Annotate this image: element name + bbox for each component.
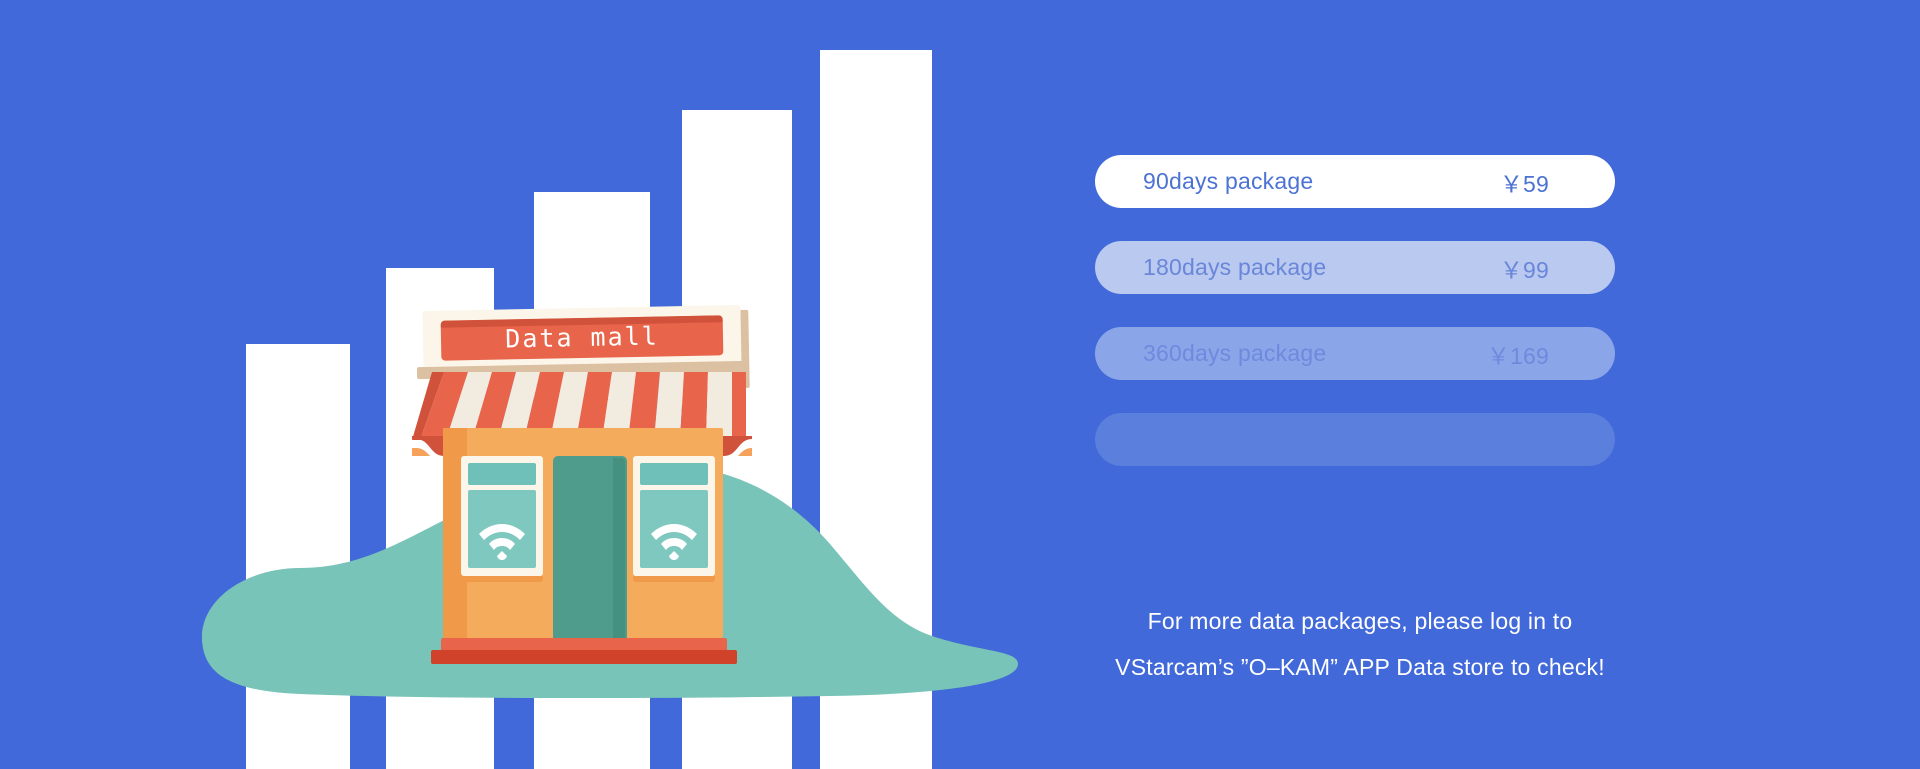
wifi-icon bbox=[640, 490, 708, 568]
footer-note: For more data packages, please log in to… bbox=[1045, 598, 1675, 690]
package-price: ￥99 bbox=[1500, 251, 1567, 285]
store-window-left bbox=[461, 456, 543, 576]
package-option-placeholder[interactable] bbox=[1095, 413, 1615, 466]
footer-note-line-1: For more data packages, please log in to bbox=[1045, 598, 1675, 644]
window-shadow bbox=[633, 576, 715, 582]
package-option-90days[interactable]: 90days package ￥59 bbox=[1095, 155, 1615, 208]
store-door-shade bbox=[613, 458, 625, 640]
store-step-lower bbox=[431, 650, 737, 664]
wifi-icon bbox=[468, 490, 536, 568]
storefront-illustration: Data mall bbox=[415, 296, 775, 681]
package-option-list: 90days package ￥59 180days package ￥99 3… bbox=[1095, 155, 1615, 466]
package-name: 90days package bbox=[1143, 168, 1313, 195]
package-price: ￥169 bbox=[1487, 337, 1567, 371]
store-sign-text: Data mall bbox=[441, 315, 724, 360]
footer-note-line-2: VStarcam’s ”O–KAM” APP Data store to che… bbox=[1045, 644, 1675, 690]
window-shadow bbox=[461, 576, 543, 582]
window-pane bbox=[640, 490, 708, 568]
package-price: ￥59 bbox=[1500, 165, 1567, 199]
store-sign-plate: Data mall bbox=[441, 315, 724, 360]
package-name: 360days package bbox=[1143, 340, 1326, 367]
promo-banner: Data mall bbox=[0, 0, 1920, 769]
package-option-360days[interactable]: 360days package ￥169 bbox=[1095, 327, 1615, 380]
window-transom bbox=[640, 463, 708, 485]
package-name: 180days package bbox=[1143, 254, 1326, 281]
package-option-180days[interactable]: 180days package ￥99 bbox=[1095, 241, 1615, 294]
window-transom bbox=[468, 463, 536, 485]
store-window-right bbox=[633, 456, 715, 576]
window-pane bbox=[468, 490, 536, 568]
